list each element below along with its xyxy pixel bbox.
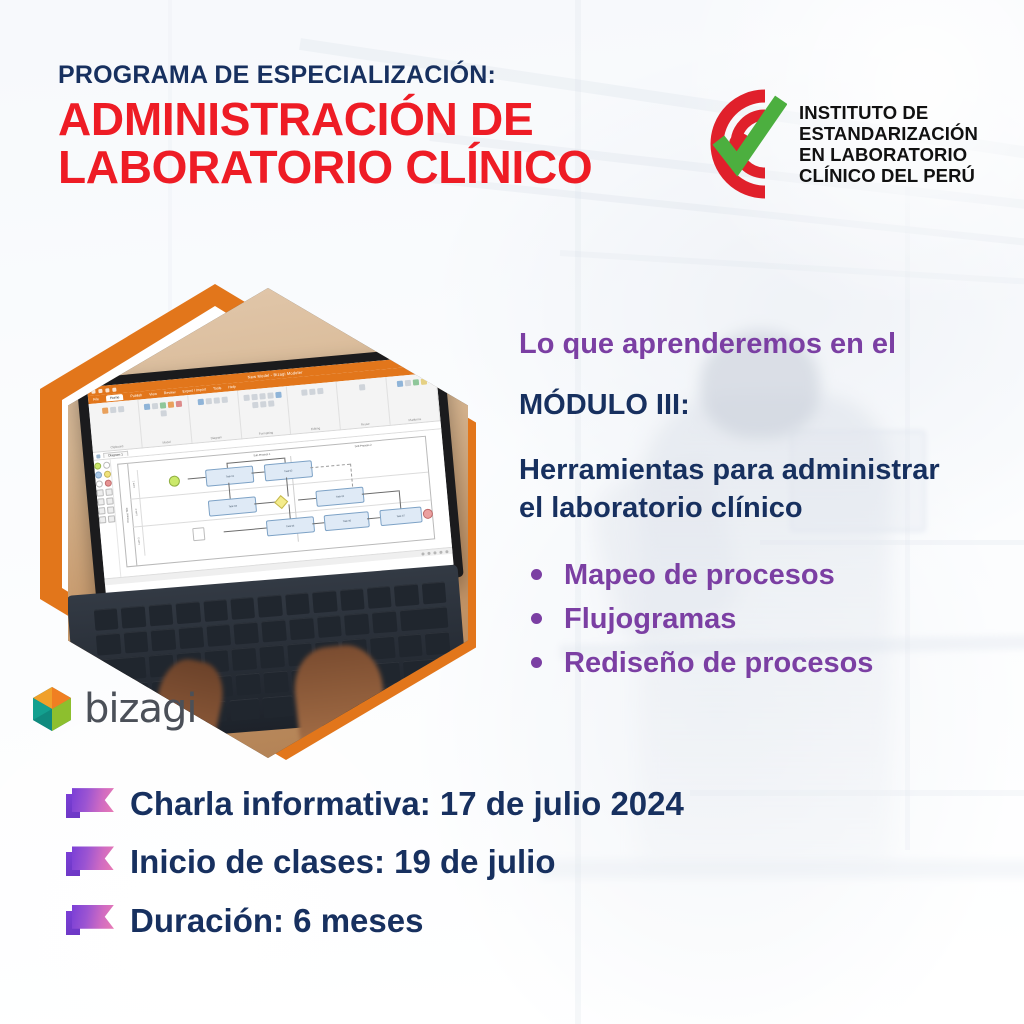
zoom-in-icon[interactable] bbox=[433, 551, 436, 554]
lane-header: Lane 3 bbox=[133, 526, 146, 557]
font-size-icon[interactable] bbox=[243, 395, 250, 402]
pool-palette-icon[interactable] bbox=[97, 498, 105, 506]
institute-logo: INSTITUTO DE ESTANDARIZACIÓN EN LABORATO… bbox=[693, 84, 988, 204]
key bbox=[230, 597, 255, 620]
ribbon-icons bbox=[339, 380, 384, 392]
flag-banner-icon bbox=[66, 786, 114, 822]
lane-palette-icon[interactable] bbox=[106, 497, 114, 505]
institute-name-line2: ESTANDARIZACIÓN bbox=[799, 123, 978, 144]
fact-text: Charla informativa: 17 de julio 2024 bbox=[130, 786, 684, 822]
module-subtitle: Herramientas para administrar el laborat… bbox=[519, 451, 1009, 528]
ribbon-icons bbox=[389, 376, 434, 388]
topic-label: Flujogramas bbox=[564, 597, 736, 641]
bullet-dot-icon bbox=[531, 569, 542, 580]
group-palette-icon[interactable] bbox=[99, 516, 107, 524]
lane-label: Lane 3 bbox=[137, 537, 141, 545]
backspace-key bbox=[399, 607, 448, 632]
key bbox=[312, 590, 337, 613]
institute-name-line1: INSTITUTO DE bbox=[799, 102, 978, 123]
bullet-dot-icon bbox=[531, 613, 542, 624]
key bbox=[206, 624, 231, 647]
key bbox=[123, 631, 148, 654]
select-icon[interactable] bbox=[309, 389, 316, 396]
key bbox=[259, 645, 284, 668]
ribbon-group-editing: Editing bbox=[287, 382, 341, 434]
redo-icon[interactable] bbox=[112, 387, 116, 391]
ribbon-group-model: Model bbox=[138, 395, 192, 447]
bizagi-wordmark: bizagi bbox=[84, 686, 197, 732]
cut-icon[interactable] bbox=[110, 407, 117, 414]
ribbon-tab-publish[interactable]: Publish bbox=[130, 393, 142, 398]
remove-filters-icon[interactable] bbox=[222, 397, 229, 404]
phase-label: Sub-Process 2 bbox=[355, 444, 372, 449]
gateway-palette-icon[interactable] bbox=[104, 470, 112, 478]
topic-label: Rediseño de procesos bbox=[564, 641, 873, 685]
key bbox=[234, 622, 259, 645]
gallery-icon[interactable] bbox=[359, 384, 366, 391]
word-office-icon[interactable] bbox=[176, 401, 183, 408]
lane-label: Lane 2 bbox=[134, 509, 138, 517]
intermediate-event-palette-icon[interactable] bbox=[103, 461, 111, 469]
data-object-palette-icon[interactable] bbox=[107, 506, 115, 514]
key bbox=[179, 626, 204, 649]
key bbox=[94, 608, 119, 631]
bold-icon[interactable] bbox=[251, 394, 258, 401]
module-heading: MÓDULO III: bbox=[519, 389, 1009, 422]
canvas-tab[interactable]: Diagram 1 bbox=[103, 451, 128, 458]
ribbon-icons bbox=[91, 403, 136, 415]
key bbox=[151, 629, 176, 652]
artifact-palette-icon[interactable] bbox=[108, 515, 116, 523]
institute-name-line4: CLÍNICO DEL PERÚ bbox=[799, 165, 978, 186]
key bbox=[148, 604, 173, 627]
task-label: Task 05 bbox=[286, 524, 294, 528]
validate-icon[interactable] bbox=[152, 403, 159, 410]
key bbox=[263, 695, 294, 718]
institute-logo-text: INSTITUTO DE ESTANDARIZACIÓN EN LABORATO… bbox=[799, 102, 978, 186]
flag-band bbox=[72, 846, 114, 870]
fact-text: Inicio de clases: 19 de julio bbox=[130, 844, 556, 880]
poster-root: PROGRAMA DE ESPECIALIZACIÓN: ADMINISTRAC… bbox=[0, 0, 1024, 1024]
full-screen-icon[interactable] bbox=[445, 550, 448, 553]
annotation-palette-icon[interactable] bbox=[98, 507, 106, 515]
new-model-icon[interactable] bbox=[144, 404, 151, 411]
task-label: Task 04 bbox=[336, 495, 344, 499]
copy-icon[interactable] bbox=[118, 406, 125, 413]
undo-icon[interactable] bbox=[105, 388, 109, 392]
simulation-view-icon[interactable] bbox=[198, 399, 205, 406]
fact-row: Charla informativa: 17 de julio 2024 bbox=[66, 786, 786, 822]
ribbon-icons bbox=[289, 385, 334, 397]
find-icon[interactable] bbox=[301, 389, 308, 396]
flag-banner-icon bbox=[66, 903, 114, 939]
lane-header: Lane 2 bbox=[130, 498, 142, 527]
ribbon-tab-help[interactable]: Help bbox=[228, 385, 236, 390]
key bbox=[258, 595, 283, 618]
key bbox=[285, 593, 310, 616]
bpmn-data-object[interactable] bbox=[192, 527, 205, 541]
page-title-line1: ADMINISTRACIÓN DE bbox=[58, 96, 678, 144]
task-label: Task 03 bbox=[229, 505, 237, 509]
italic-icon[interactable] bbox=[259, 393, 266, 400]
topic-label: Mapeo de procesos bbox=[564, 553, 835, 597]
header-block: PROGRAMA DE ESPECIALIZACIÓN: ADMINISTRAC… bbox=[58, 62, 678, 192]
fit-page-icon[interactable] bbox=[439, 550, 442, 553]
zoom-slider-icon[interactable] bbox=[427, 551, 430, 554]
ribbon-tab-review[interactable]: Review bbox=[164, 390, 176, 395]
key bbox=[372, 611, 397, 634]
bizagi-logo: bizagi bbox=[30, 678, 230, 740]
key bbox=[230, 698, 261, 721]
run-icon[interactable] bbox=[161, 410, 168, 417]
key bbox=[176, 601, 201, 624]
flag-band bbox=[72, 788, 114, 812]
share-icon[interactable] bbox=[160, 402, 167, 409]
target-with-check-icon bbox=[693, 88, 787, 200]
phase-label: Sub-Process 1 bbox=[253, 453, 270, 458]
facts-block: Charla informativa: 17 de julio 2024 Ini… bbox=[66, 786, 786, 961]
list-item: Rediseño de procesos bbox=[531, 641, 1009, 685]
bizagi-platform-icon[interactable] bbox=[412, 379, 419, 386]
key bbox=[367, 586, 392, 609]
ribbon-tab-export-import[interactable]: Export / Import bbox=[182, 387, 206, 393]
message-flow-palette-icon[interactable] bbox=[105, 488, 113, 496]
program-kicker: PROGRAMA DE ESPECIALIZACIÓN: bbox=[58, 62, 678, 88]
key bbox=[421, 582, 446, 605]
key bbox=[317, 615, 342, 638]
bizagi-cube-icon bbox=[30, 685, 74, 733]
flag-banner-icon bbox=[66, 844, 114, 880]
list-item: Mapeo de procesos bbox=[531, 553, 1009, 597]
key bbox=[370, 636, 395, 659]
bullet-dot-icon bbox=[531, 657, 542, 668]
right-content-column: Lo que aprenderemos en el MÓDULO III: He… bbox=[519, 328, 1009, 685]
online-courses-icon[interactable] bbox=[420, 378, 427, 385]
fill-color-icon[interactable] bbox=[275, 392, 282, 399]
key bbox=[340, 588, 365, 611]
ribbon-tab-file[interactable]: File bbox=[93, 397, 99, 402]
key bbox=[397, 634, 422, 657]
zoom-out-icon[interactable] bbox=[421, 552, 424, 555]
key bbox=[344, 613, 369, 636]
subprocess-palette-icon[interactable] bbox=[96, 480, 104, 488]
ribbon-icons bbox=[140, 398, 186, 418]
fact-row: Duración: 6 meses bbox=[66, 903, 786, 939]
key bbox=[263, 670, 289, 693]
end-event-palette-icon[interactable] bbox=[105, 479, 113, 487]
topic-list: Mapeo de procesos Flujogramas Rediseño d… bbox=[519, 553, 1009, 685]
delete-icon[interactable] bbox=[317, 388, 324, 395]
task-palette-icon[interactable] bbox=[95, 471, 103, 479]
key bbox=[232, 647, 257, 670]
align-icon[interactable] bbox=[260, 401, 267, 408]
key bbox=[235, 672, 261, 695]
undo-diagram-icon[interactable] bbox=[214, 397, 221, 404]
bpmn-pool[interactable]: Process Title Sub-Process 1 Sub-Process … bbox=[117, 436, 435, 568]
pool-label: Process Title bbox=[125, 508, 129, 523]
ribbon-group-diagram: Diagram bbox=[188, 391, 242, 443]
fact-text: Duración: 6 meses bbox=[130, 903, 423, 939]
start-event-palette-icon[interactable] bbox=[94, 462, 102, 470]
institute-name-line3: EN LABORATORIO bbox=[799, 144, 978, 165]
ribbon-group-platforms: Platforms bbox=[386, 373, 440, 425]
cloud-icon[interactable] bbox=[396, 381, 403, 388]
key bbox=[96, 633, 121, 656]
font-color-icon[interactable] bbox=[252, 402, 259, 409]
key bbox=[394, 584, 419, 607]
page-title-line2: LABORATORIO CLÍNICO bbox=[58, 144, 678, 192]
fact-row: Inicio de clases: 19 de julio bbox=[66, 844, 786, 880]
flag-band bbox=[72, 905, 114, 929]
new-diagram-icon[interactable] bbox=[96, 454, 100, 458]
key bbox=[425, 632, 450, 655]
list-item: Flujogramas bbox=[531, 597, 1009, 641]
lead-line: Lo que aprenderemos en el bbox=[519, 328, 1009, 361]
ribbon-tab-view[interactable]: View bbox=[149, 392, 157, 397]
key bbox=[289, 618, 314, 641]
laptop-screen: New Model - Bizagi Modeler File Home Pub… bbox=[87, 356, 454, 598]
lane-label: Lane 1 bbox=[132, 481, 136, 489]
task-label: Task 07 bbox=[396, 514, 404, 518]
key bbox=[261, 620, 286, 643]
task-label: Task 06 bbox=[343, 519, 351, 523]
key bbox=[203, 599, 228, 622]
task-label: Task 01 bbox=[226, 474, 234, 478]
key bbox=[121, 606, 146, 629]
ribbon-icons bbox=[190, 394, 235, 406]
run-analytics-icon[interactable] bbox=[404, 380, 411, 387]
ribbon-icons bbox=[240, 389, 286, 409]
ribbon-group-reuse: Reuse bbox=[337, 377, 391, 429]
check-in-icon[interactable] bbox=[206, 398, 213, 405]
lane-header: Lane 1 bbox=[128, 470, 140, 499]
underline-icon[interactable] bbox=[267, 392, 274, 399]
shape-style-icon[interactable] bbox=[268, 400, 275, 407]
ribbon-tab-tools[interactable]: Tools bbox=[213, 386, 222, 391]
paste-icon[interactable] bbox=[102, 407, 109, 414]
ribbon-group-clipboard: Clipboard bbox=[89, 400, 143, 452]
sequence-flow-palette-icon[interactable] bbox=[96, 489, 104, 497]
properties-icon[interactable] bbox=[168, 401, 175, 408]
module-subtitle-line2: el laboratorio clínico bbox=[519, 489, 1009, 527]
module-subtitle-line1: Herramientas para administrar bbox=[519, 451, 1009, 489]
save-icon[interactable] bbox=[98, 388, 102, 392]
ribbon-group-formatting: Formatting bbox=[238, 386, 292, 438]
page-title: ADMINISTRACIÓN DE LABORATORIO CLÍNICO bbox=[58, 96, 678, 192]
task-label: Task 02 bbox=[284, 469, 292, 473]
